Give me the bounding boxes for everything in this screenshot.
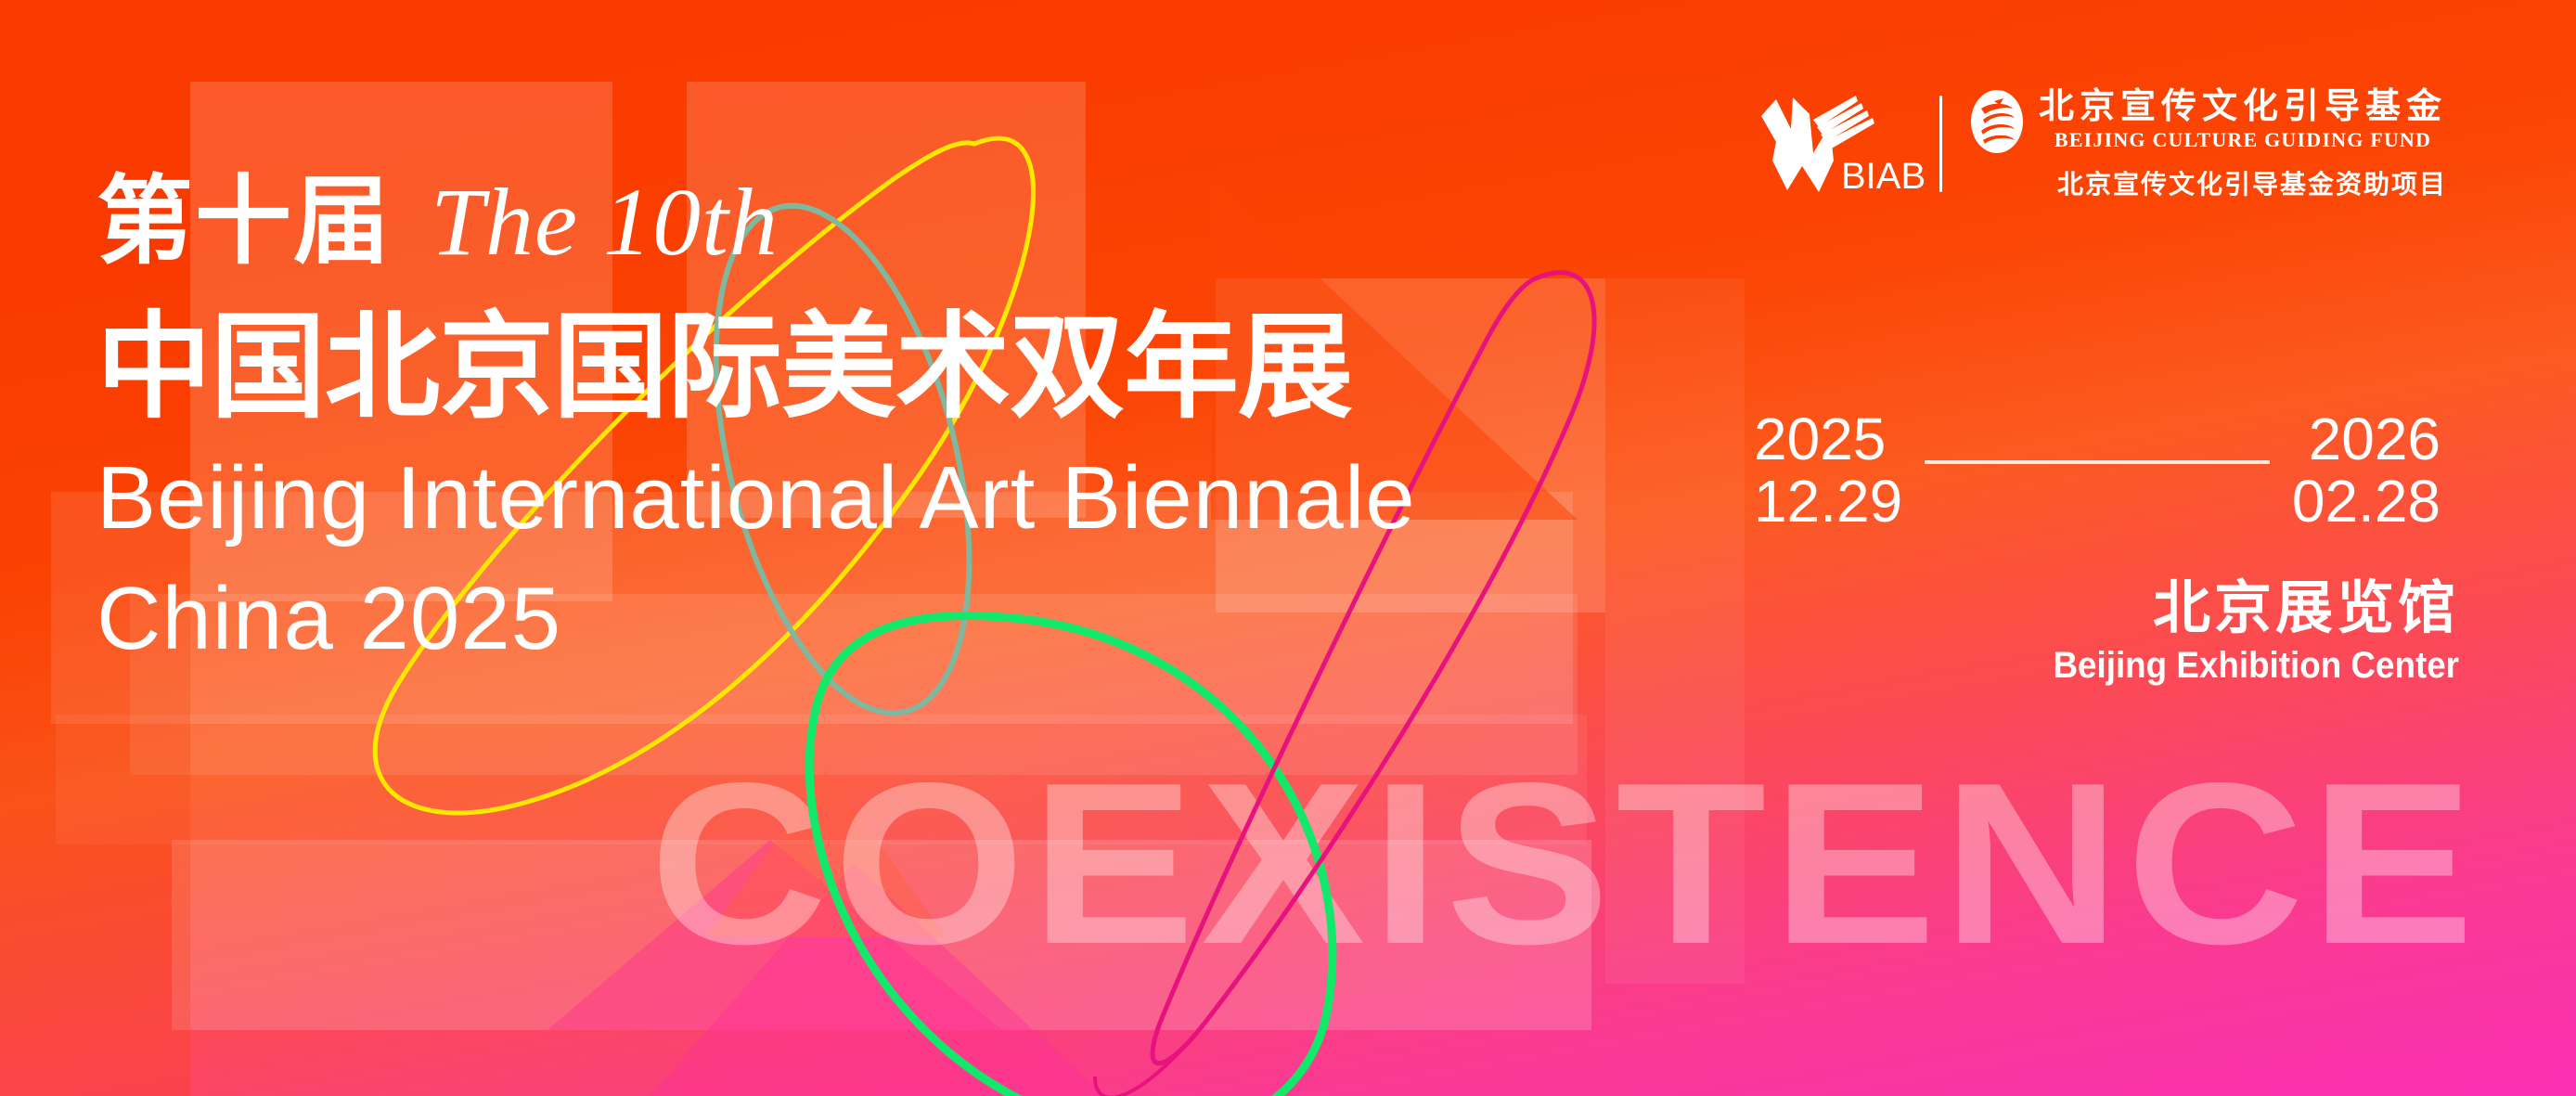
biab-bird-mark-icon: BIAB	[1745, 88, 1930, 200]
date-range: 2025 12.29 2026 02.28	[1754, 408, 2441, 532]
start-year: 2025	[1754, 408, 1902, 471]
coexistence-watermark: COEXISTENCE	[650, 748, 2576, 978]
curve-magenta-tail-icon	[1095, 1021, 1206, 1096]
sponsor-divider	[1939, 96, 1942, 192]
end-date: 2026 02.28	[2292, 408, 2441, 532]
fund-name-chinese: 北京宣传文化引导基金	[2039, 88, 2447, 125]
fund-seal-icon	[1968, 86, 2026, 157]
end-day: 02.28	[2292, 471, 2441, 533]
end-year: 2026	[2292, 408, 2441, 471]
main-title-english-line2: China 2025	[97, 563, 1099, 675]
edition-line: 第十届 The 10th	[97, 173, 1099, 295]
sponsor-block: BIAB 北京宣传文化引导基金 BEIJING CU	[1745, 84, 2468, 204]
fund-subtitle-chinese: 北京宣传文化引导基金资助项目	[2057, 164, 2447, 201]
fund-wordmark: 北京宣传文化引导基金 BEIJING CULTURE GUIDING FUND	[2039, 88, 2447, 156]
fund-logo-group: 北京宣传文化引导基金 BEIJING CULTURE GUIDING FUND …	[1968, 86, 2447, 201]
headline-block: 第十届 The 10th 中国北京国际美术双年展 Beijing Interna…	[97, 173, 1099, 675]
venue-name-english: Beijing Exhibition Center	[1802, 645, 2459, 686]
curve-green-icon	[809, 615, 1333, 1096]
venue-name-chinese: 北京展览馆	[1745, 575, 2459, 639]
biab-wordmark: BIAB	[1841, 156, 1926, 197]
date-separator-rule	[1925, 460, 2270, 464]
edition-chinese: 第十届	[97, 173, 392, 269]
poster-canvas: COEXISTENCE 第十届 The 10th 中国北京国际美术双年展 Bei…	[0, 0, 2576, 1096]
fund-name-english: BEIJING CULTURE GUIDING FUND	[2054, 124, 2431, 155]
main-title-english-line1: Beijing International Art Biennale	[97, 443, 1099, 554]
main-title-chinese: 中国北京国际美术双年展	[97, 308, 1099, 428]
start-day: 12.29	[1754, 471, 1902, 533]
start-date: 2025 12.29	[1754, 408, 1902, 532]
sponsor-row: BIAB 北京宣传文化引导基金 BEIJING CU	[1745, 84, 2468, 204]
fund-logo-top: 北京宣传文化引导基金 BEIJING CULTURE GUIDING FUND	[1968, 86, 2447, 157]
venue-block: 北京展览馆 Beijing Exhibition Center	[1745, 575, 2459, 686]
edition-english: The 10th	[431, 174, 779, 271]
